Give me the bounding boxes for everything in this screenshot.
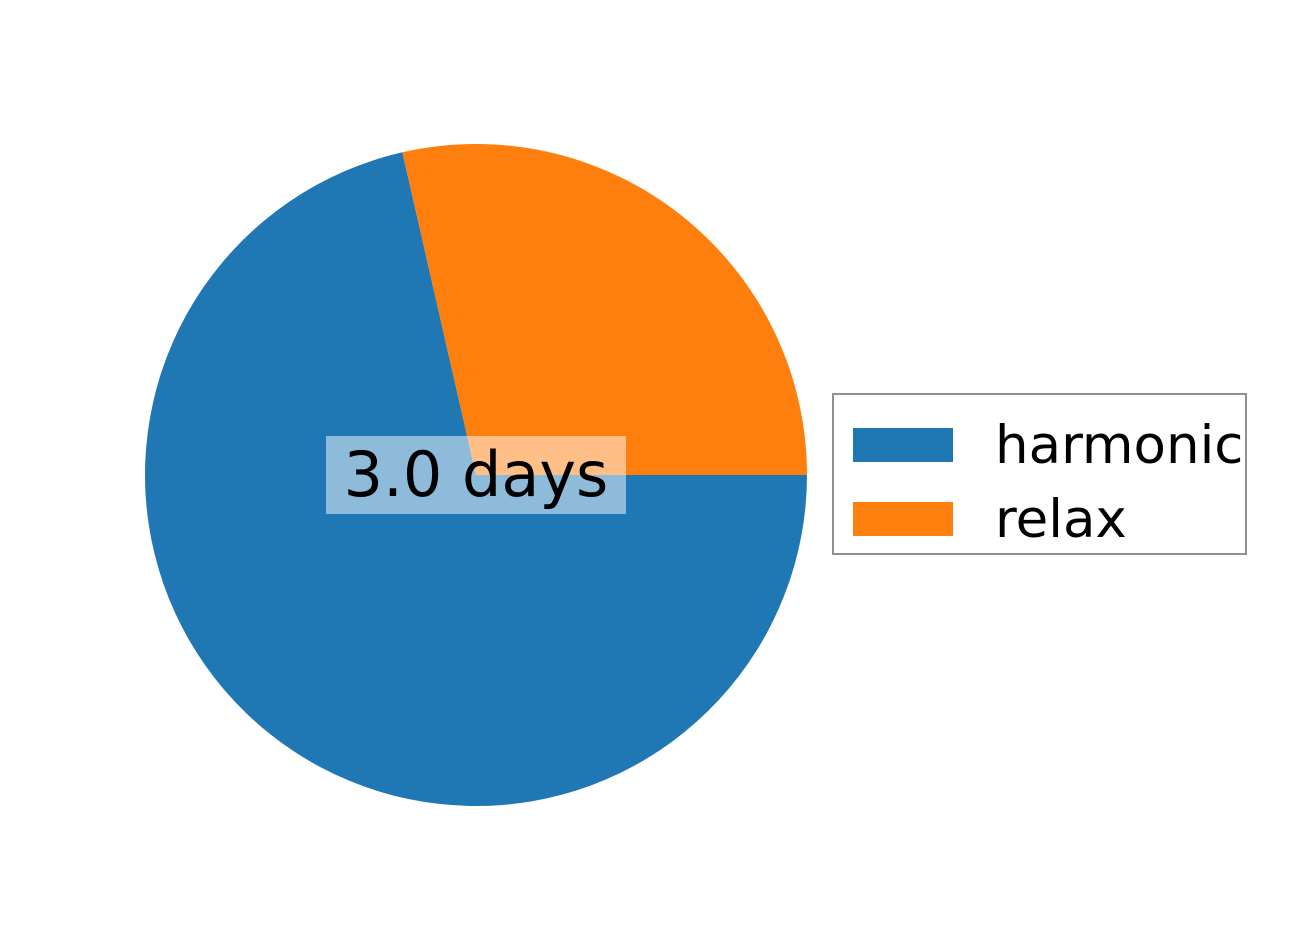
legend-item-harmonic[interactable]: harmonic xyxy=(834,408,1243,482)
pie-wedges xyxy=(145,144,807,806)
figure-canvas: 3.0 days harmonic relax xyxy=(0,0,1307,951)
legend-item-relax[interactable]: relax xyxy=(834,482,1127,556)
legend: harmonic relax xyxy=(832,393,1247,555)
legend-swatch-relax xyxy=(853,502,953,536)
legend-swatch-harmonic xyxy=(853,428,953,462)
legend-label-harmonic: harmonic xyxy=(995,419,1243,472)
legend-label-relax: relax xyxy=(995,493,1127,546)
